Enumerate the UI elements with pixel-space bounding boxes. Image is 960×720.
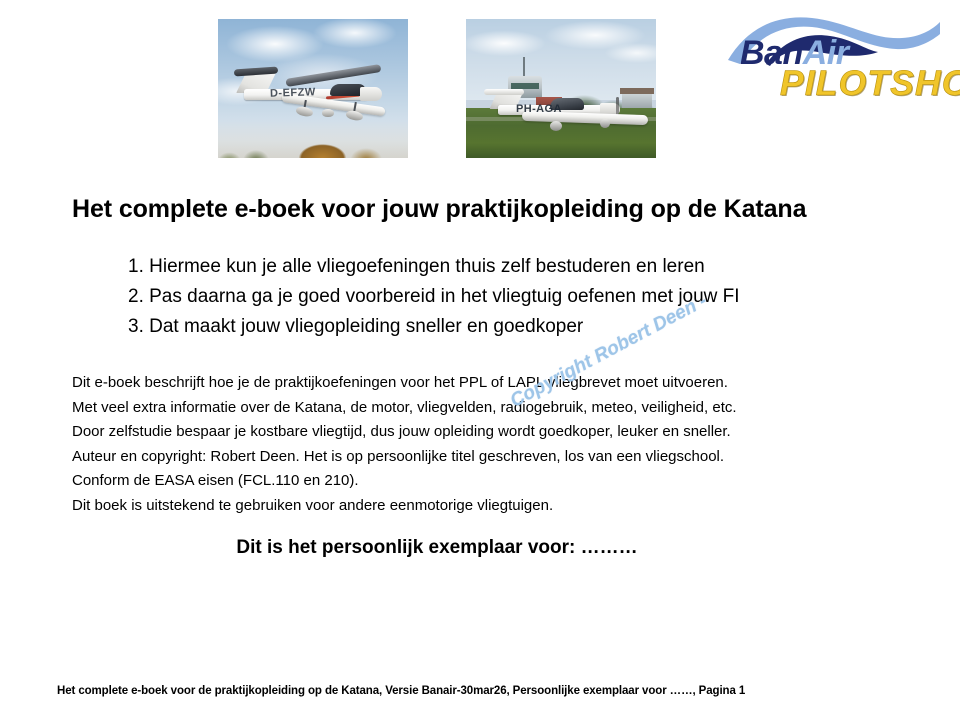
list-item: 1. Hiermee kun je alle vliegoefeningen t… <box>128 252 908 282</box>
logo-tagline-pilotshop: PILOTSHOP <box>780 66 960 101</box>
horizontal-stabilizer <box>484 89 524 95</box>
main-gear <box>550 121 562 131</box>
nose-cowling <box>360 87 382 101</box>
body-line: Dit e-boek beschrijft hoe je de praktijk… <box>72 371 872 396</box>
aircraft-katana-flying: D-EFZW <box>234 67 394 129</box>
far-wing <box>285 64 381 87</box>
body-copy: Dit e-boek beschrijft hoe je de praktijk… <box>72 371 872 518</box>
aircraft-registration: PH-AGA <box>516 103 562 115</box>
page-footer: Het complete e-boek voor de praktijkople… <box>57 685 745 697</box>
body-line: Met veel extra informatie over de Katana… <box>72 396 872 421</box>
list-item: 2. Pas daarna ga je goed voorbereid in h… <box>128 282 908 312</box>
body-line: Dit boek is uitstekend te gebruiken voor… <box>72 494 872 519</box>
slide-canvas: D-EFZW PH-AGA BanAir <box>0 0 960 720</box>
photo-katana-in-flight: D-EFZW <box>218 19 408 158</box>
body-line: Auteur en copyright: Robert Deen. Het is… <box>72 445 872 470</box>
personal-copy-line: Dit is het persoonlijk exemplaar voor: …… <box>72 537 802 559</box>
photo-katana-parked: PH-AGA <box>466 19 656 158</box>
body-line: Door zelfstudie bespaar je kostbare vlie… <box>72 420 872 445</box>
aircraft-katana-parked: PH-AGA <box>476 89 648 135</box>
nose-gear <box>600 119 610 128</box>
banair-pilotshop-logo: BanAir PILOTSHOP <box>726 8 944 104</box>
aircraft-registration: D-EFZW <box>270 86 316 100</box>
body-line: Conform de EASA eisen (FCL.110 en 210). <box>72 469 872 494</box>
page-title: Het complete e-boek voor jouw praktijkop… <box>72 195 902 224</box>
list-item: 3. Dat maakt jouw vliegopleiding sneller… <box>128 312 908 342</box>
nose-gear <box>322 109 334 117</box>
benefits-list: 1. Hiermee kun je alle vliegoefeningen t… <box>128 252 908 342</box>
left-main-gear <box>295 105 313 117</box>
